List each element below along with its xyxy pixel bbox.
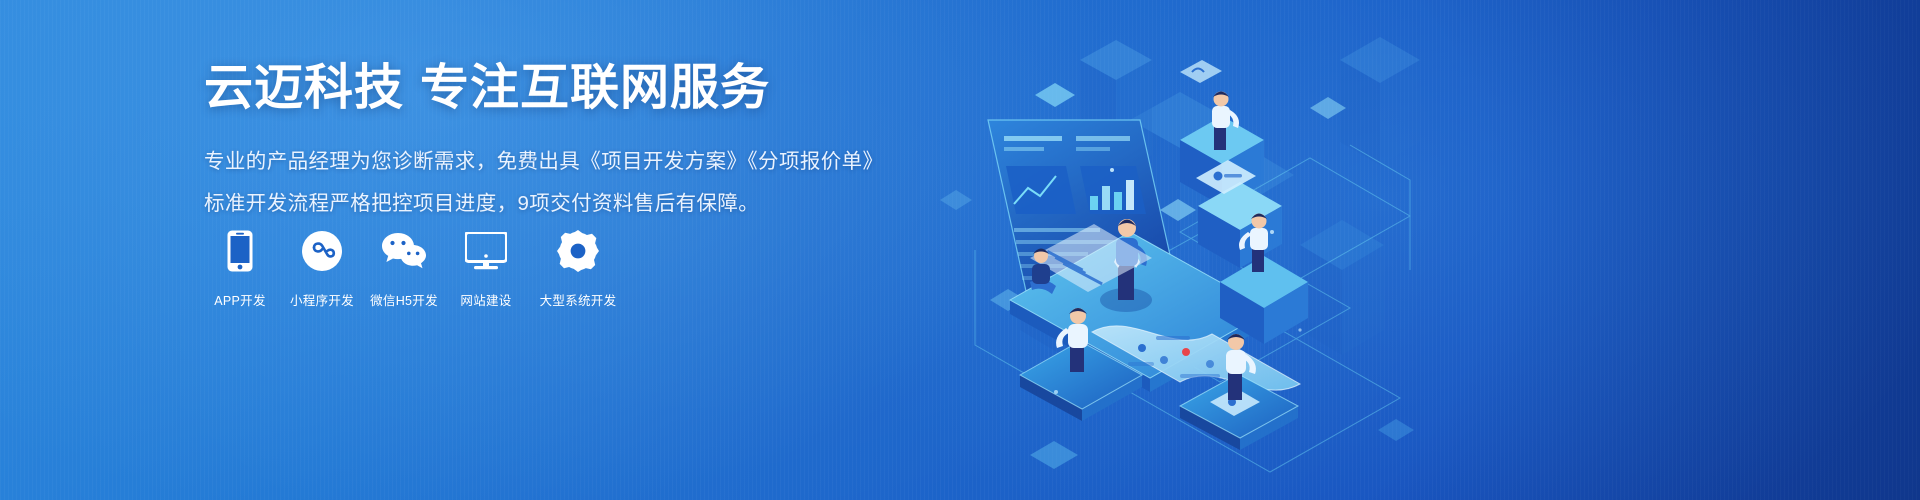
- gear-icon: [557, 228, 599, 274]
- subtitle-line-2: 标准开发流程严格把控项目进度，9项交付资料售后有保障。: [204, 194, 964, 215]
- service-list: APP开发 小程序开发: [204, 228, 634, 309]
- headline-company: 云迈科技: [204, 61, 404, 115]
- phone-icon: [227, 228, 253, 274]
- service-label: 小程序开发: [290, 290, 354, 309]
- service-label: APP开发: [214, 290, 266, 309]
- isometric-tech-illustration: [880, 0, 1920, 500]
- hero-banner: 云迈科技专注互联网服务 专业的产品经理为您诊断需求，免费出具《项目开发方案》《分…: [0, 0, 1920, 500]
- service-item-miniprogram[interactable]: 小程序开发: [286, 228, 358, 309]
- service-item-website[interactable]: 网站建设: [450, 228, 522, 309]
- banner-text-block: 云迈科技专注互联网服务 专业的产品经理为您诊断需求，免费出具《项目开发方案》《分…: [204, 62, 964, 237]
- subtitle-line-1: 专业的产品经理为您诊断需求，免费出具《项目开发方案》《分项报价单》: [204, 152, 964, 173]
- headline-tagline: 专注互联网服务: [420, 61, 770, 115]
- service-label: 微信H5开发: [370, 290, 438, 309]
- monitor-icon: [465, 228, 507, 274]
- miniprogram-icon: [302, 228, 342, 274]
- wechat-icon: [381, 228, 427, 274]
- page-title: 云迈科技专注互联网服务: [204, 62, 964, 116]
- service-label: 大型系统开发: [540, 290, 617, 309]
- subtitle-block: 专业的产品经理为您诊断需求，免费出具《项目开发方案》《分项报价单》 标准开发流程…: [204, 152, 964, 215]
- service-item-app[interactable]: APP开发: [204, 228, 276, 309]
- service-label: 网站建设: [460, 290, 511, 309]
- service-item-large-system[interactable]: 大型系统开发: [532, 228, 624, 309]
- service-item-wechat-h5[interactable]: 微信H5开发: [368, 228, 440, 309]
